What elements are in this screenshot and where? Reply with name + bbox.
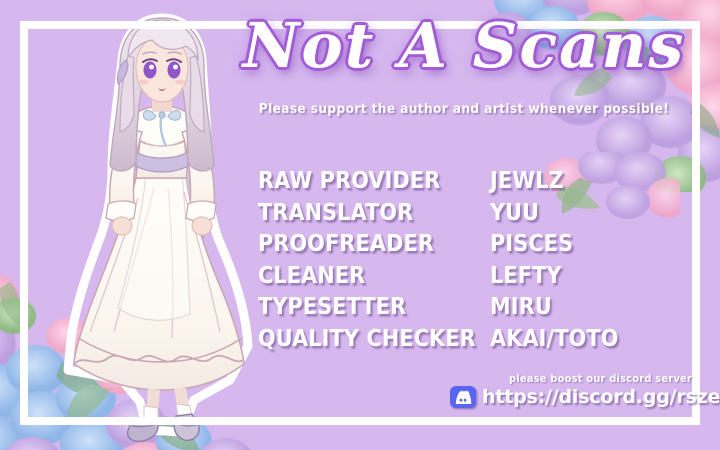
credit-row: TRANSLATOR YUU xyxy=(258,200,688,232)
credit-role: QUALITY CHECKER xyxy=(258,326,490,352)
credit-role: TRANSLATOR xyxy=(258,200,490,226)
discord-block: please boost our discord server https://… xyxy=(450,372,694,414)
discord-invite-link[interactable]: https://discord.gg/rszeywm xyxy=(450,386,720,408)
credits-list: RAW PROVIDER JEWLZ TRANSLATOR YUU PROOFR… xyxy=(258,168,688,357)
character-illustration xyxy=(62,2,262,446)
page-title: Not A Scans xyxy=(238,4,690,88)
credit-row: QUALITY CHECKER AKAI/TOTO xyxy=(258,326,688,358)
credits-page: Not A Scans Please support the author an… xyxy=(0,0,720,450)
credit-role: TYPESETTER xyxy=(258,294,490,320)
discord-boost-note: please boost our discord server xyxy=(509,372,692,385)
credit-name: AKAI/TOTO xyxy=(490,326,688,352)
credit-row: PROOFREADER PISCES xyxy=(258,231,688,263)
credit-row: RAW PROVIDER JEWLZ xyxy=(258,168,688,200)
credit-row: TYPESETTER MIRU xyxy=(258,294,688,326)
credit-name: MIRU xyxy=(490,294,688,320)
support-message: Please support the author and artist whe… xyxy=(238,101,690,117)
credit-role: PROOFREADER xyxy=(258,231,490,257)
credit-row: CLEANER LEFTY xyxy=(258,263,688,295)
discord-icon[interactable] xyxy=(450,386,476,408)
credit-role: RAW PROVIDER xyxy=(258,168,490,194)
credit-name: JEWLZ xyxy=(490,168,688,194)
credit-name: LEFTY xyxy=(490,263,688,289)
credit-name: YUU xyxy=(490,200,688,226)
credit-role: CLEANER xyxy=(258,263,490,289)
credit-name: PISCES xyxy=(490,231,688,257)
discord-url[interactable]: https://discord.gg/rszeywm xyxy=(482,386,720,408)
